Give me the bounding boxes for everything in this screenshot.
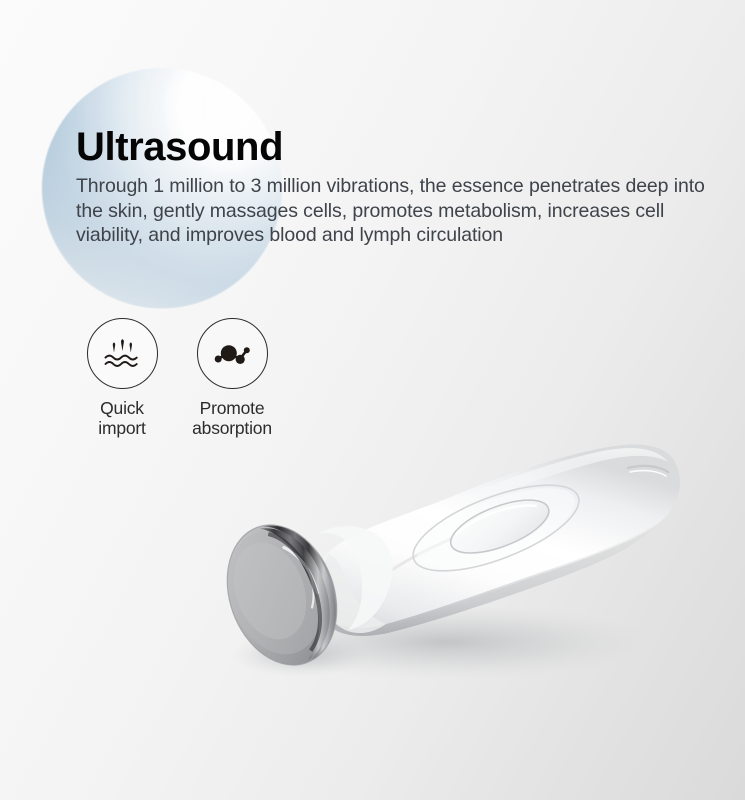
product-feature-page: Ultrasound Through 1 million to 3 millio… [0,0,745,800]
feature-item-quick-import: Quick import [76,318,168,439]
page-title: Ultrasound [76,126,736,168]
product-image [196,410,726,710]
hero-description: Through 1 million to 3 million vibration… [76,174,736,248]
feature-label: Quick import [98,398,145,439]
hero-text-block: Ultrasound Through 1 million to 3 millio… [76,126,736,248]
molecule-icon [197,318,268,389]
droplets-waves-icon [87,318,158,389]
